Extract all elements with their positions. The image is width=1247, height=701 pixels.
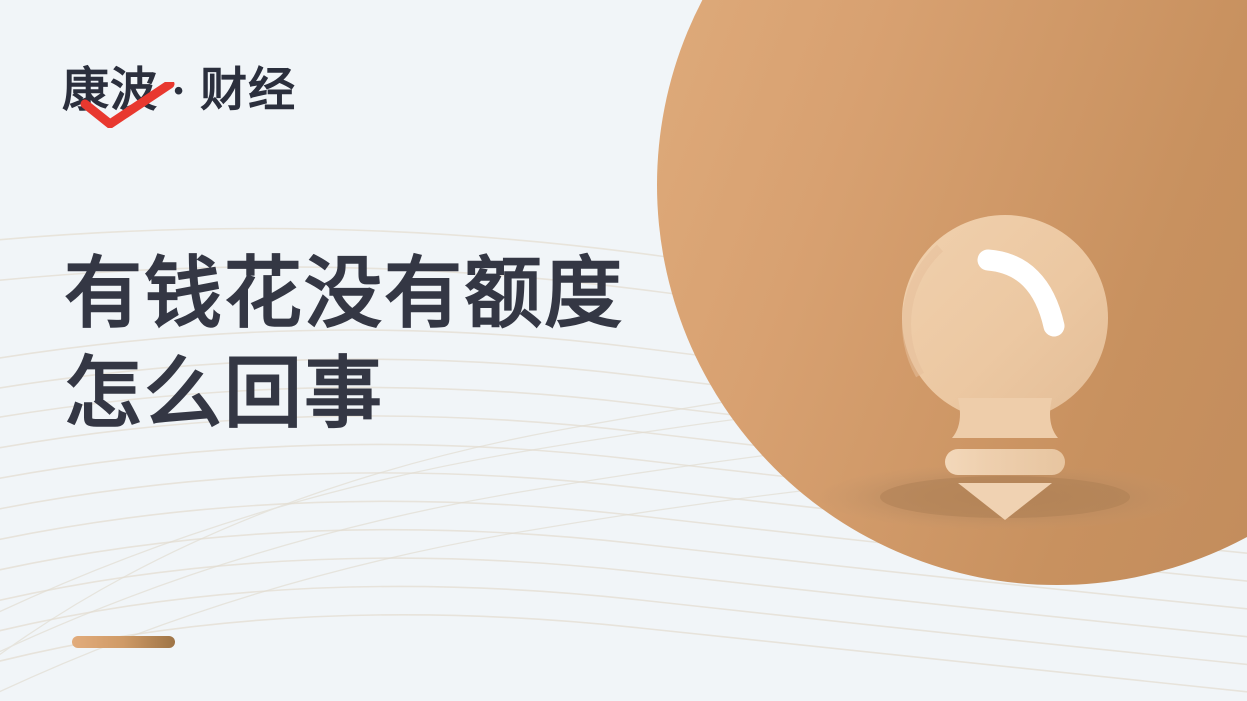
page-title-line-1: 有钱花没有额度 [64,243,764,343]
page-title: 有钱花没有额度 怎么回事 [64,243,764,443]
brand-logo-text: 康波 · 财经 [62,58,296,124]
accent-bar [72,636,175,648]
poster-canvas: 康波 · 财经 有钱花没有额度 怎么回事 [0,0,1247,701]
page-title-line-2: 怎么回事 [64,343,764,443]
lightbulb-illustration [800,190,1220,530]
bulb-neck [952,398,1058,438]
lightbulb-icon [800,190,1220,530]
brand-logo[interactable]: 康波 · 财经 [62,58,296,124]
bulb-glass [902,215,1108,421]
bulb-base-bar [945,449,1065,475]
